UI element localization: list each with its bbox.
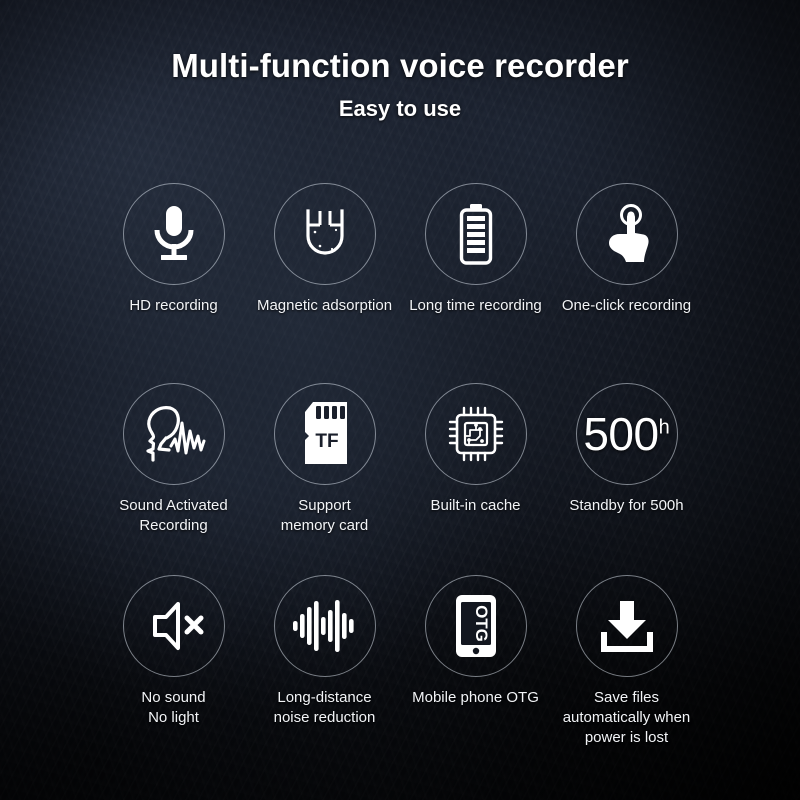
feature-icon-circle <box>576 575 678 677</box>
feature-icon-circle <box>576 183 678 285</box>
feature-label: Mobile phone OTG <box>388 688 564 708</box>
magnet-icon <box>296 205 354 263</box>
feature-label: Standby for 500h <box>539 496 715 516</box>
feature-label: HD recording <box>94 296 254 316</box>
page-subtitle: Easy to use <box>0 96 800 122</box>
feature-icon-circle: OTG <box>425 575 527 677</box>
product-feature-poster: Multi-function voice recorder Easy to us… <box>0 0 800 800</box>
feature-label: Save files automatically when power is l… <box>539 688 715 748</box>
feature-item-save-files-auto: Save files automatically when power is l… <box>551 575 702 765</box>
feature-label: Sound Activated Recording <box>86 496 262 536</box>
feature-label: Long time recording <box>388 296 564 316</box>
feature-item-magnetic-adsorption: Magnetic adsorption <box>249 183 400 383</box>
feature-item-hd-recording: HD recording <box>98 183 249 383</box>
feature-icon-circle <box>123 575 225 677</box>
feature-item-long-time-recording: Long time recording <box>400 183 551 383</box>
feature-icon-circle: TF <box>274 383 376 485</box>
feature-icon-circle <box>274 183 376 285</box>
phone-otg-icon: OTG <box>454 593 498 659</box>
download-save-icon <box>598 599 656 653</box>
speaker-mute-icon <box>143 600 205 652</box>
feature-icon-circle <box>274 575 376 677</box>
feature-item-one-click-recording: One-click recording <box>551 183 702 383</box>
feature-item-no-sound-no-light: No sound No light <box>98 575 249 765</box>
badge-value: 500 <box>583 408 658 460</box>
feature-icon-circle <box>123 183 225 285</box>
battery-full-icon <box>455 203 497 265</box>
text-500h-icon: 500h <box>583 411 669 457</box>
feature-icon-circle <box>425 383 527 485</box>
feature-item-built-in-cache: Built-in cache <box>400 383 551 575</box>
feature-label: Magnetic adsorption <box>237 296 413 316</box>
chip-icon <box>445 403 507 465</box>
microphone-icon <box>147 204 201 264</box>
poster-header: Multi-function voice recorder Easy to us… <box>0 0 800 122</box>
tap-hand-icon <box>598 204 656 264</box>
feature-icon-circle <box>123 383 225 485</box>
feature-label: Long-distance noise reduction <box>237 688 413 728</box>
feature-label: Support memory card <box>245 496 405 536</box>
feature-item-mobile-phone-otg: OTG Mobile phone OTG <box>400 575 551 765</box>
voice-profile-icon <box>139 403 209 465</box>
feature-item-memory-card: TF Support memory card <box>249 383 400 575</box>
audio-bars-icon <box>292 599 358 653</box>
feature-item-noise-reduction: Long-distance noise reduction <box>249 575 400 765</box>
feature-item-standby-500h: 500h Standby for 500h <box>551 383 702 575</box>
badge-unit: h <box>659 417 670 439</box>
page-title: Multi-function voice recorder <box>0 48 800 84</box>
feature-label: One-click recording <box>539 296 715 316</box>
feature-icon-circle: 500h <box>576 383 678 485</box>
feature-label: No sound No light <box>94 688 254 728</box>
svg-text:TF: TF <box>315 431 338 452</box>
feature-item-sound-activated: Sound Activated Recording <box>98 383 249 575</box>
feature-grid: HD recording Magnetic adsorption <box>98 183 702 765</box>
feature-label: Built-in cache <box>396 496 556 516</box>
phone-screen-text: OTG <box>472 605 491 642</box>
tf-card-icon: TF <box>299 402 351 466</box>
feature-icon-circle <box>425 183 527 285</box>
